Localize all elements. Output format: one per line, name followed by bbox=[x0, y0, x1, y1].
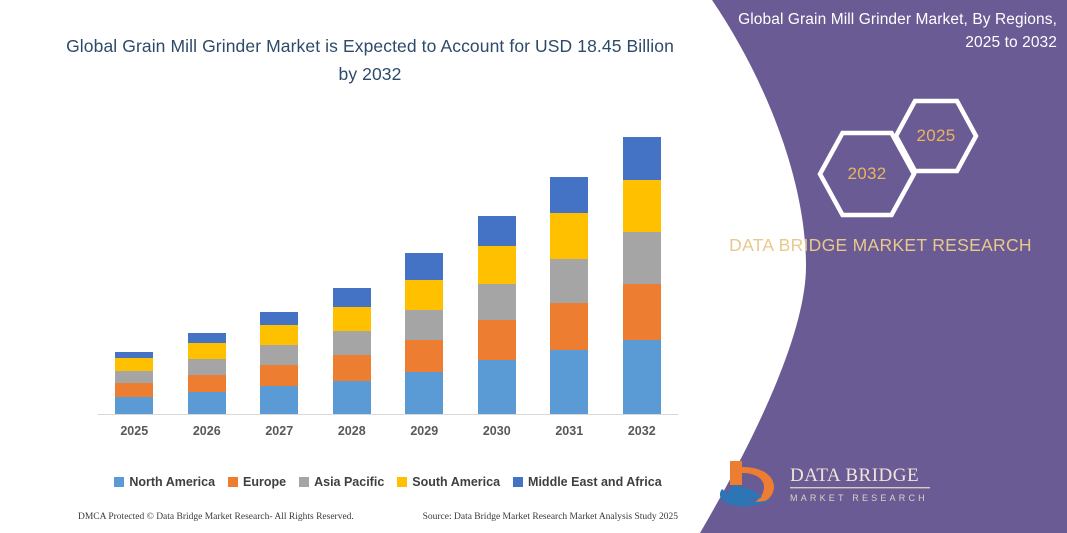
legend-item[interactable]: North America bbox=[114, 475, 215, 489]
bar-column bbox=[623, 137, 661, 414]
bar-segment bbox=[115, 383, 153, 397]
bar-segment bbox=[188, 343, 226, 359]
bar-segment bbox=[333, 355, 371, 381]
hexagon-label-2025: 2025 bbox=[894, 98, 978, 174]
bar-segment bbox=[478, 320, 516, 360]
footer-source: Source: Data Bridge Market Research Mark… bbox=[423, 512, 678, 522]
bar-column bbox=[478, 216, 516, 414]
bar-chart-plot bbox=[98, 120, 678, 415]
brand-name: DATA BRIDGE MARKET RESEARCH bbox=[712, 232, 1067, 258]
legend-swatch-icon bbox=[299, 477, 309, 487]
bar-segment bbox=[623, 340, 661, 414]
logo-mark bbox=[720, 461, 774, 506]
legend-swatch-icon bbox=[114, 477, 124, 487]
legend-label: Middle East and Africa bbox=[528, 475, 662, 489]
bar-segment bbox=[115, 397, 153, 414]
legend-item[interactable]: Asia Pacific bbox=[299, 475, 384, 489]
bar-segment bbox=[478, 284, 516, 320]
bar-segment bbox=[550, 350, 588, 414]
bar-segment bbox=[188, 333, 226, 343]
legend-label: North America bbox=[129, 475, 215, 489]
bar-segment bbox=[623, 137, 661, 180]
bar-column bbox=[188, 333, 226, 414]
x-axis-tick-2029: 2029 bbox=[394, 424, 454, 438]
bar-segment bbox=[333, 331, 371, 355]
bar-segment bbox=[550, 259, 588, 303]
legend-item[interactable]: Middle East and Africa bbox=[513, 475, 662, 489]
infographic-canvas: Global Grain Mill Grinder Market, By Reg… bbox=[0, 0, 1067, 533]
legend-label: South America bbox=[412, 475, 500, 489]
bar-segment bbox=[405, 253, 443, 280]
hexagon-badges: 2032 2025 bbox=[818, 98, 978, 208]
bar-segment bbox=[115, 358, 153, 371]
bar-segment bbox=[260, 312, 298, 325]
legend-swatch-icon bbox=[513, 477, 523, 487]
bar-segment bbox=[623, 232, 661, 284]
bar-column bbox=[550, 177, 588, 414]
bar-segment bbox=[333, 381, 371, 414]
bar-segment bbox=[405, 340, 443, 372]
x-axis-tick-2028: 2028 bbox=[322, 424, 382, 438]
bar-column bbox=[405, 253, 443, 414]
dbmr-logo: DATA BRIDGE MARKET RESEARCH bbox=[712, 455, 1067, 515]
footer: DMCA Protected © Data Bridge Market Rese… bbox=[78, 508, 678, 526]
hexagon-badge-2025: 2025 bbox=[894, 98, 978, 174]
bar-segment bbox=[478, 246, 516, 284]
legend-label: Asia Pacific bbox=[314, 475, 384, 489]
panel-content: Global Grain Mill Grinder Market, By Reg… bbox=[712, 0, 1067, 533]
bar-column bbox=[260, 312, 298, 414]
bar-segment bbox=[405, 280, 443, 310]
bar-segment bbox=[188, 359, 226, 375]
legend-swatch-icon bbox=[228, 477, 238, 487]
bar-segment bbox=[550, 177, 588, 213]
x-axis-tick-2032: 2032 bbox=[612, 424, 672, 438]
bar-segment bbox=[260, 386, 298, 414]
legend-swatch-icon bbox=[397, 477, 407, 487]
bar-segment bbox=[333, 307, 371, 331]
bar-segment bbox=[478, 216, 516, 246]
x-axis-tick-2031: 2031 bbox=[539, 424, 599, 438]
x-axis-tick-2026: 2026 bbox=[177, 424, 237, 438]
bar-segment bbox=[188, 375, 226, 392]
legend-label: Europe bbox=[243, 475, 286, 489]
bar-segment bbox=[333, 288, 371, 307]
bar-segment bbox=[623, 180, 661, 232]
x-axis-labels: 20252026202720282029203020312032 bbox=[98, 424, 678, 444]
bar-segment bbox=[260, 345, 298, 365]
chart-baseline bbox=[98, 414, 678, 415]
bar-segment bbox=[188, 392, 226, 414]
bar-segment bbox=[260, 365, 298, 386]
x-axis-tick-2025: 2025 bbox=[104, 424, 164, 438]
bar-segment bbox=[115, 371, 153, 383]
chart-legend: North AmericaEuropeAsia PacificSouth Ame… bbox=[98, 472, 678, 492]
panel-title: Global Grain Mill Grinder Market, By Reg… bbox=[722, 8, 1057, 54]
logo-wordmark: DATA BRIDGE MARKET RESEARCH bbox=[790, 465, 930, 503]
bar-segment bbox=[405, 310, 443, 340]
svg-text:DATA BRIDGE: DATA BRIDGE bbox=[790, 465, 919, 486]
legend-item[interactable]: South America bbox=[397, 475, 500, 489]
chart-title: Global Grain Mill Grinder Market is Expe… bbox=[60, 32, 680, 88]
x-axis-tick-2030: 2030 bbox=[467, 424, 527, 438]
svg-text:MARKET RESEARCH: MARKET RESEARCH bbox=[790, 493, 928, 503]
footer-copyright: DMCA Protected © Data Bridge Market Rese… bbox=[78, 512, 354, 522]
x-axis-tick-2027: 2027 bbox=[249, 424, 309, 438]
bar-segment bbox=[405, 372, 443, 414]
bar-column bbox=[115, 352, 153, 414]
bar-segment bbox=[550, 213, 588, 259]
bar-column bbox=[333, 288, 371, 414]
bar-segment bbox=[623, 284, 661, 340]
bar-segment bbox=[260, 325, 298, 345]
bar-segment bbox=[550, 303, 588, 350]
legend-item[interactable]: Europe bbox=[228, 475, 286, 489]
bar-segment bbox=[478, 360, 516, 414]
